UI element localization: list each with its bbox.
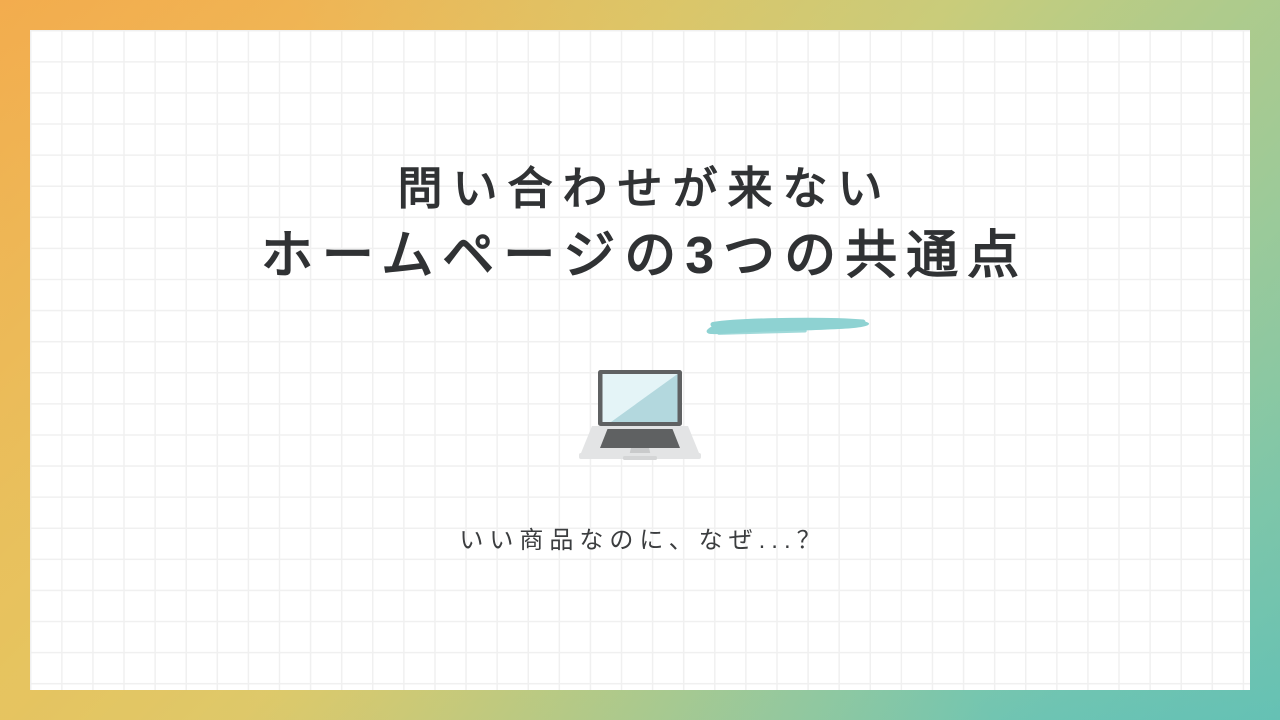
slide-canvas: 問い合わせが来ない ホームページの3つの共通点	[0, 0, 1280, 720]
laptop-icon	[575, 360, 705, 470]
title-line-2-text: ホームページの3つの共通点	[261, 227, 1028, 285]
title-line-1-text: 問い合わせが来ない	[397, 163, 892, 214]
marker-highlight	[705, 314, 870, 337]
title-block: 問い合わせが来ない ホームページの3つの共通点	[30, 158, 1250, 292]
laptop-illustration	[575, 360, 705, 470]
title-line-2: ホームページの3つの共通点	[30, 220, 1250, 292]
content-panel: 問い合わせが来ない ホームページの3つの共通点	[30, 30, 1250, 690]
subtitle: いい商品なのに、なぜ...？	[30, 520, 1250, 555]
title-line-1: 問い合わせが来ない	[30, 158, 1250, 220]
